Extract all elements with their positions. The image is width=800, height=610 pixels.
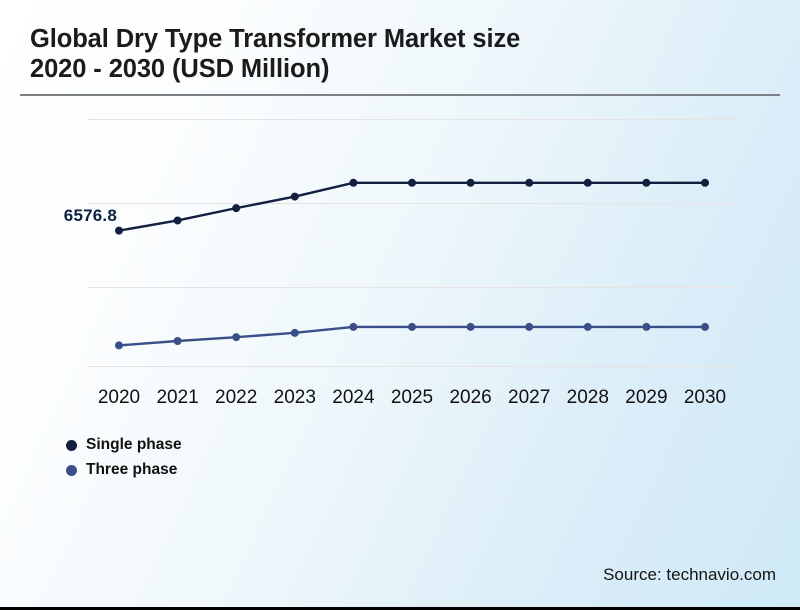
data-point-marker[interactable] xyxy=(642,323,650,331)
chart-page: Global Dry Type Transformer Market size … xyxy=(0,0,800,610)
x-axis-tick-label: 2030 xyxy=(670,386,740,410)
data-label-single-phase-2020: 6576.8 xyxy=(47,206,117,226)
data-point-marker[interactable] xyxy=(525,323,533,331)
data-point-marker[interactable] xyxy=(174,216,182,224)
data-point-marker[interactable] xyxy=(349,179,357,187)
legend-item-label: Single phase xyxy=(86,436,182,454)
legend-marker-icon xyxy=(66,440,77,451)
data-point-marker[interactable] xyxy=(291,329,299,337)
data-point-marker[interactable] xyxy=(642,179,650,187)
data-point-marker[interactable] xyxy=(701,323,709,331)
legend-item-three-phase[interactable]: Three phase xyxy=(66,458,182,482)
series-line-single-phase xyxy=(119,183,705,231)
data-point-marker[interactable] xyxy=(174,337,182,345)
x-axis: 2020202120222023202420252026202720282029… xyxy=(0,386,800,410)
data-point-marker[interactable] xyxy=(467,179,475,187)
chart-plot-area xyxy=(0,0,800,610)
data-point-marker[interactable] xyxy=(584,323,592,331)
source-attribution: Source: technavio.com xyxy=(603,565,776,585)
data-point-marker[interactable] xyxy=(115,227,123,235)
data-point-marker[interactable] xyxy=(408,323,416,331)
data-point-marker[interactable] xyxy=(349,323,357,331)
legend-item-single-phase[interactable]: Single phase xyxy=(66,433,182,457)
chart-legend: Single phase Three phase xyxy=(66,433,182,483)
series-svg xyxy=(0,0,800,610)
data-point-marker[interactable] xyxy=(291,193,299,201)
legend-item-label: Three phase xyxy=(86,461,177,479)
data-point-marker[interactable] xyxy=(232,204,240,212)
data-point-marker[interactable] xyxy=(701,179,709,187)
data-point-marker[interactable] xyxy=(408,179,416,187)
data-point-marker[interactable] xyxy=(232,333,240,341)
data-point-marker[interactable] xyxy=(115,341,123,349)
legend-marker-icon xyxy=(66,465,77,476)
data-point-marker[interactable] xyxy=(525,179,533,187)
data-point-marker[interactable] xyxy=(467,323,475,331)
data-point-marker[interactable] xyxy=(584,179,592,187)
